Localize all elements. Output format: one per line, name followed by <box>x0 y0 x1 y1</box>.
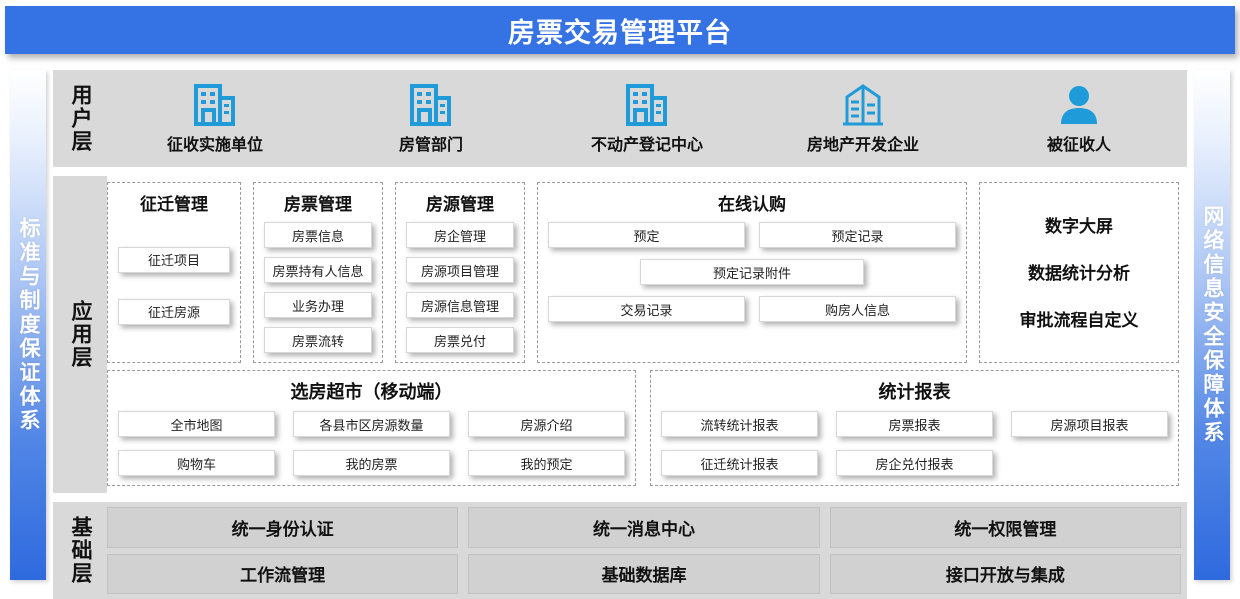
base-layer-items: 统一身份认证 统一消息中心 统一权限管理 工作流管理 基础数据库 接口开放与集成 <box>107 502 1187 599</box>
chip-item[interactable]: 流转统计报表 <box>661 411 818 437</box>
building-solid-icon <box>410 82 452 126</box>
left-pillar-label: 标准与制度保证体系 <box>17 217 39 433</box>
building-outline-icon <box>840 82 886 126</box>
card-items: 流转统计报表 房票报表 房源项目报表 征迁统计报表 房企兑付报表 <box>661 411 1168 476</box>
page-title-bar: 房票交易管理平台 <box>5 6 1235 54</box>
card-title: 选房超市（移动端） <box>118 378 625 404</box>
card-items: 房企管理 房源项目管理 房源信息管理 房票兑付 <box>406 222 514 353</box>
user-item-label: 房地产开发企业 <box>807 131 919 155</box>
user-layer-label: 用户层 <box>69 84 91 153</box>
base-cell[interactable]: 基础数据库 <box>468 554 819 595</box>
user-item-realestate-registry[interactable]: 不动产登记中心 <box>539 82 755 155</box>
card-online-subscription: 在线认购 预定 预定记录 预定记录附件 交易记录 购房人信息 <box>537 182 967 363</box>
right-pillar-security: 网络信息安全保障体系 <box>1194 70 1230 580</box>
chip-item[interactable]: 我的预定 <box>468 450 625 476</box>
base-cell[interactable]: 接口开放与集成 <box>830 554 1181 595</box>
application-layer-band: 应用层 征迁管理 征迁项目 征迁房源 房票管理 房票信息 <box>53 176 1187 493</box>
card-analytics-group: 数字大屏 数据统计分析 审批流程自定义 <box>979 182 1179 363</box>
grid-spacer <box>1011 450 1168 476</box>
card-statistical-reports: 统计报表 流转统计报表 房票报表 房源项目报表 征迁统计报表 房企兑付报表 <box>650 370 1179 486</box>
chip-item[interactable]: 预定 <box>548 222 745 248</box>
architecture-stack: 用户层 征收实施单位 <box>53 70 1187 599</box>
chip-item[interactable]: 预定记录附件 <box>640 259 864 285</box>
building-solid-icon <box>194 82 236 126</box>
chip-item[interactable]: 房源信息管理 <box>406 292 514 318</box>
card-voucher-management: 房票管理 房票信息 房票持有人信息 业务办理 房票流转 <box>253 182 383 363</box>
chip-item[interactable]: 征迁项目 <box>118 247 230 273</box>
chip-item[interactable]: 房源介绍 <box>468 411 625 437</box>
chip-item[interactable]: 预定记录 <box>759 222 956 248</box>
chip-item[interactable]: 我的房票 <box>293 450 450 476</box>
card-title: 征迁管理 <box>118 190 230 215</box>
chip-item[interactable]: 征迁房源 <box>118 299 230 325</box>
base-layer-band: 基础层 统一身份认证 统一消息中心 统一权限管理 工作流管理 基础数据库 接口开… <box>53 502 1187 599</box>
card-items: 房票信息 房票持有人信息 业务办理 房票流转 <box>264 222 372 353</box>
card-title: 房票管理 <box>264 190 372 215</box>
card-items: 预定 预定记录 预定记录附件 交易记录 购房人信息 <box>548 222 956 322</box>
page-title: 房票交易管理平台 <box>508 11 732 50</box>
person-icon <box>1058 82 1100 126</box>
user-layer-band: 用户层 征收实施单位 <box>53 70 1187 167</box>
card-title: 统计报表 <box>661 378 1168 404</box>
user-item-label: 征收实施单位 <box>167 131 263 155</box>
card-title: 房源管理 <box>406 190 514 215</box>
chip-item[interactable]: 业务办理 <box>264 292 372 318</box>
card-title: 在线认购 <box>548 190 956 215</box>
base-cell[interactable]: 工作流管理 <box>107 554 458 595</box>
chip-item[interactable]: 房票兑付 <box>406 327 514 353</box>
base-layer-label: 基础层 <box>69 516 91 585</box>
building-solid-icon <box>626 82 668 126</box>
chip-item[interactable]: 房票流转 <box>264 327 372 353</box>
left-pillar-standards: 标准与制度保证体系 <box>10 70 46 580</box>
user-item-expropriated-person[interactable]: 被征收人 <box>971 82 1187 155</box>
app-row-2: 选房超市（移动端） 全市地图 各县市区房源数量 房源介绍 购物车 我的房票 我的… <box>107 370 1187 486</box>
card-house-selection-market: 选房超市（移动端） 全市地图 各县市区房源数量 房源介绍 购物车 我的房票 我的… <box>107 370 636 486</box>
plain-item[interactable]: 数字大屏 <box>990 212 1168 237</box>
card-items: 征迁项目 征迁房源 <box>118 222 230 353</box>
chip-item[interactable]: 房企兑付报表 <box>836 450 993 476</box>
app-row-1: 征迁管理 征迁项目 征迁房源 房票管理 房票信息 房票持有人信息 业务办理 房票… <box>107 182 1187 363</box>
chip-item[interactable]: 房票信息 <box>264 222 372 248</box>
chip-item[interactable]: 房票报表 <box>836 411 993 437</box>
user-item-label: 被征收人 <box>1047 131 1111 155</box>
user-item-developer-enterprise[interactable]: 房地产开发企业 <box>755 82 971 155</box>
base-cell[interactable]: 统一身份认证 <box>107 507 458 548</box>
chip-item[interactable]: 房企管理 <box>406 222 514 248</box>
card-listing-management: 房源管理 房企管理 房源项目管理 房源信息管理 房票兑付 <box>395 182 525 363</box>
base-layer-label-box: 基础层 <box>53 502 107 599</box>
right-pillar-label: 网络信息安全保障体系 <box>1201 205 1223 445</box>
app-layer-label: 应用层 <box>69 300 91 369</box>
user-item-collection-unit[interactable]: 征收实施单位 <box>107 82 323 155</box>
base-cell[interactable]: 统一消息中心 <box>468 507 819 548</box>
card-relocation-management: 征迁管理 征迁项目 征迁房源 <box>107 182 241 363</box>
chip-item[interactable]: 房源项目管理 <box>406 257 514 283</box>
app-layer-label-box: 应用层 <box>53 176 107 493</box>
chip-item[interactable]: 房源项目报表 <box>1011 411 1168 437</box>
chip-item[interactable]: 征迁统计报表 <box>661 450 818 476</box>
user-layer-items: 征收实施单位 房管部门 <box>107 70 1187 167</box>
chip-item[interactable]: 全市地图 <box>118 411 275 437</box>
chip-item[interactable]: 房票持有人信息 <box>264 257 372 283</box>
card-items: 数字大屏 数据统计分析 审批流程自定义 <box>990 190 1168 353</box>
chip-item[interactable]: 交易记录 <box>548 296 745 322</box>
user-item-housing-department[interactable]: 房管部门 <box>323 82 539 155</box>
chip-item[interactable]: 购物车 <box>118 450 275 476</box>
user-layer-label-box: 用户层 <box>53 70 107 167</box>
user-item-label: 房管部门 <box>399 131 463 155</box>
chip-item[interactable]: 各县市区房源数量 <box>293 411 450 437</box>
card-items: 全市地图 各县市区房源数量 房源介绍 购物车 我的房票 我的预定 <box>118 411 625 476</box>
base-cell[interactable]: 统一权限管理 <box>830 507 1181 548</box>
user-item-label: 不动产登记中心 <box>591 131 703 155</box>
plain-item[interactable]: 审批流程自定义 <box>990 306 1168 331</box>
application-layer-body: 征迁管理 征迁项目 征迁房源 房票管理 房票信息 房票持有人信息 业务办理 房票… <box>107 176 1187 493</box>
chip-item[interactable]: 购房人信息 <box>759 296 956 322</box>
plain-item[interactable]: 数据统计分析 <box>990 259 1168 284</box>
